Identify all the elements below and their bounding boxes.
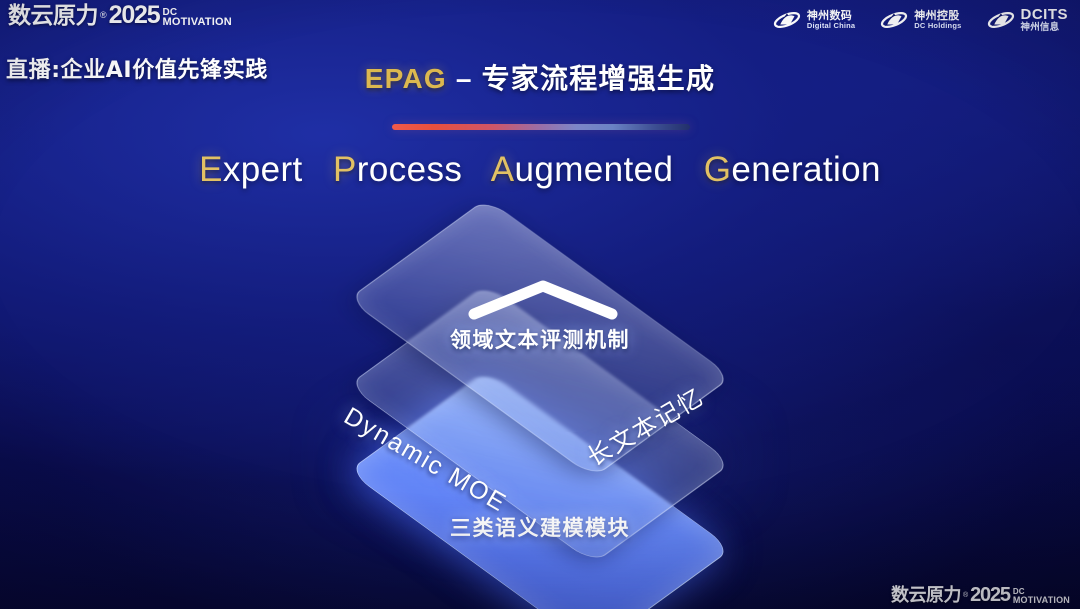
watermark-year: 2025 <box>970 585 1010 605</box>
partner-label-dcits: DCITS 神州信息 <box>1021 7 1069 33</box>
partner-name-cn: DCITS <box>1021 7 1069 23</box>
subtitle-word-process: Process <box>333 150 462 189</box>
partner-label-digital-china: 神州数码 Digital China <box>807 10 855 29</box>
subtitle-initial: P <box>333 150 357 189</box>
subtitle-word-generation: Generation <box>704 150 881 189</box>
layer-stack-diagram: 领域文本评测机制 Dynamic MOE 长文本记忆 三类语义建模模块 <box>280 222 800 582</box>
brand-logo-tagline: DC MOTIVATION <box>162 8 231 27</box>
subtitle-rest: ugmented <box>514 150 673 189</box>
swoosh-icon <box>879 9 909 31</box>
partner-name-cn: 神州数码 <box>807 10 855 22</box>
gradient-divider <box>392 124 690 130</box>
partner-logo-dcits: DCITS 神州信息 <box>986 7 1069 33</box>
subtitle-space <box>472 150 482 189</box>
brand-logo-registered-mark: ® <box>100 10 107 20</box>
page-title-acronym: EPAG <box>365 63 447 94</box>
partner-name-en: DC Holdings <box>914 22 961 30</box>
subtitle-initial: E <box>199 150 223 189</box>
slide-canvas: 数云原力 ® 2025 DC MOTIVATION 直播:企业AI价值先锋实践 … <box>0 0 1080 609</box>
partner-name-en: Digital China <box>807 22 855 30</box>
brand-logo-year: 2025 <box>109 3 160 28</box>
subtitle-word-expert: Expert <box>199 150 303 189</box>
watermark-registered-mark: ® <box>963 592 968 599</box>
swoosh-icon <box>986 9 1016 31</box>
subtitle-space <box>683 150 693 189</box>
partner-logo-digital-china: 神州数码 Digital China <box>772 9 855 31</box>
subtitle-initial: G <box>704 150 732 189</box>
brand-logo-tagline-motivation: MOTIVATION <box>162 17 231 27</box>
swoosh-icon <box>772 9 802 31</box>
subtitle-word-augmented: Augmented <box>491 150 674 189</box>
subtitle-space <box>313 150 323 189</box>
subtitle-rest: eneration <box>731 150 881 189</box>
partner-logo-dc-holdings: 神州控股 DC Holdings <box>879 9 961 31</box>
partner-logo-group: 神州数码 Digital China 神州控股 DC Holdings <box>772 7 1068 33</box>
partner-label-dc-holdings: 神州控股 DC Holdings <box>914 10 961 29</box>
subtitle-initial: A <box>491 150 515 189</box>
watermark-tagline: DC MOTIVATION <box>1013 588 1070 604</box>
watermark-chinese: 数云原力 <box>891 587 961 605</box>
brand-logo-chinese: 数云原力 <box>8 5 98 28</box>
subtitle-rest: xpert <box>223 150 303 189</box>
page-subtitle: Expert Process Augmented Generation <box>0 150 1080 190</box>
subtitle-rest: rocess <box>357 150 463 189</box>
brand-logo: 数云原力 ® 2025 DC MOTIVATION <box>8 3 232 28</box>
partner-name-en: 神州信息 <box>1021 23 1069 33</box>
page-title-chinese: 专家流程增强生成 <box>482 62 716 95</box>
page-title-dash: – <box>447 63 482 94</box>
footer-watermark: 数云原力 ® 2025 DC MOTIVATION <box>891 585 1070 605</box>
partner-name-cn: 神州控股 <box>914 10 961 22</box>
watermark-tagline-motivation: MOTIVATION <box>1013 596 1070 604</box>
page-title: EPAG – 专家流程增强生成 <box>0 57 1080 97</box>
